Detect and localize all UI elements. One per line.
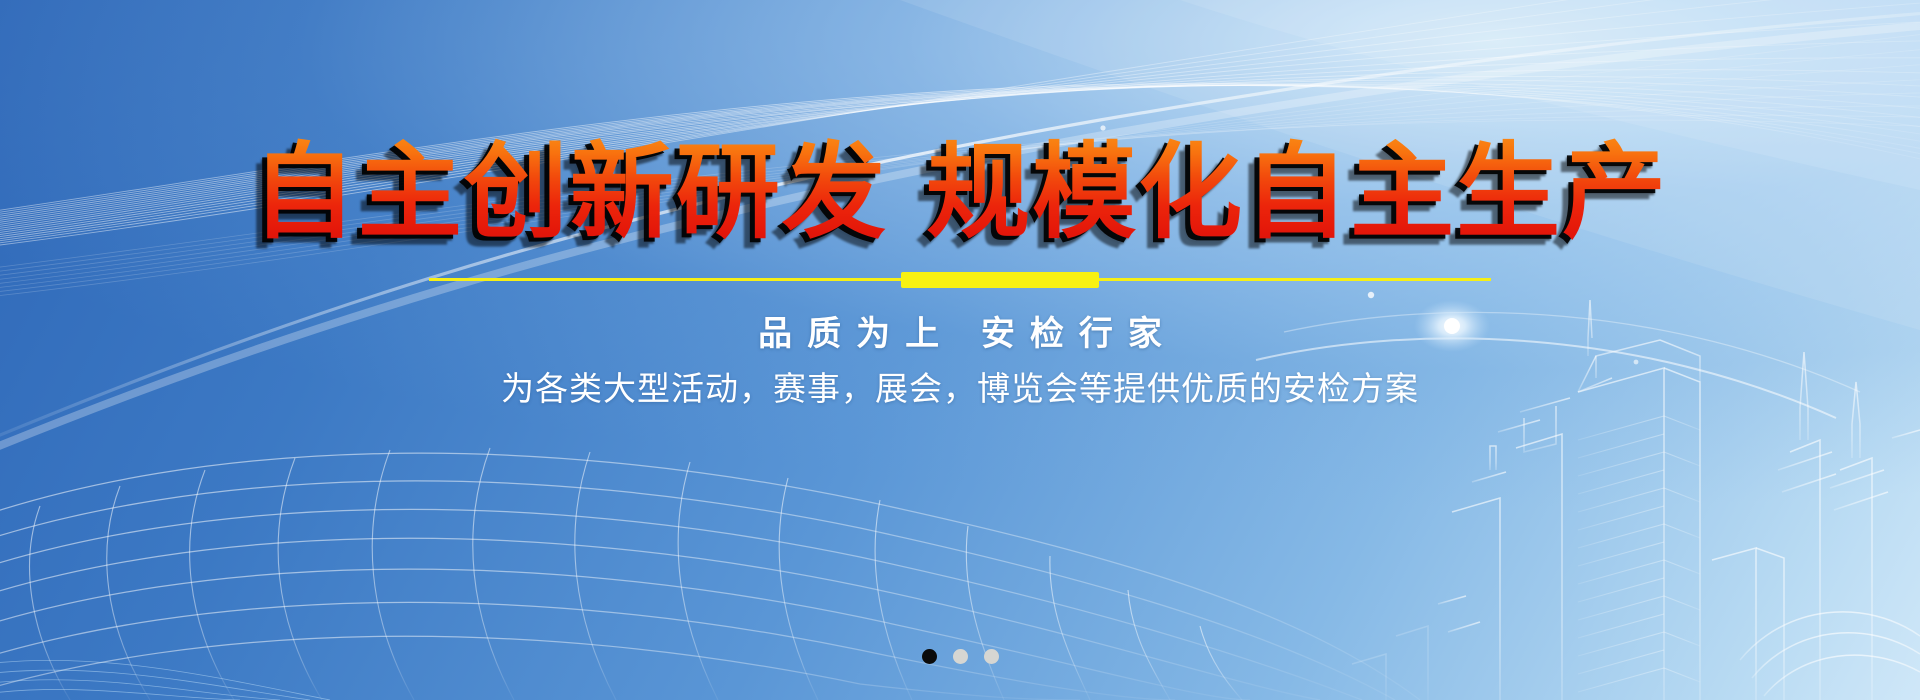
carousel-dot-1[interactable] [922, 649, 937, 664]
yellow-divider [429, 272, 1491, 288]
banner-subtitle-secondary: 为各类大型活动，赛事，展会，博览会等提供优质的安检方案 [0, 362, 1920, 410]
divider-thick-segment [901, 272, 1099, 288]
carousel-dot-3[interactable] [984, 649, 999, 664]
carousel-next-zone[interactable] [1830, 0, 1920, 700]
carousel-dot-2[interactable] [953, 649, 968, 664]
carousel-prev-zone[interactable] [0, 0, 90, 700]
banner-subtitle-primary: 品质为上 安检行家 [0, 306, 1920, 355]
hero-banner: 自主创新研发 规模化自主生产 品质为上 安检行家 为各类大型活动，赛事，展会，博… [0, 0, 1920, 700]
carousel-dots [0, 649, 1920, 664]
banner-title: 自主创新研发 规模化自主生产 [252, 134, 1668, 250]
